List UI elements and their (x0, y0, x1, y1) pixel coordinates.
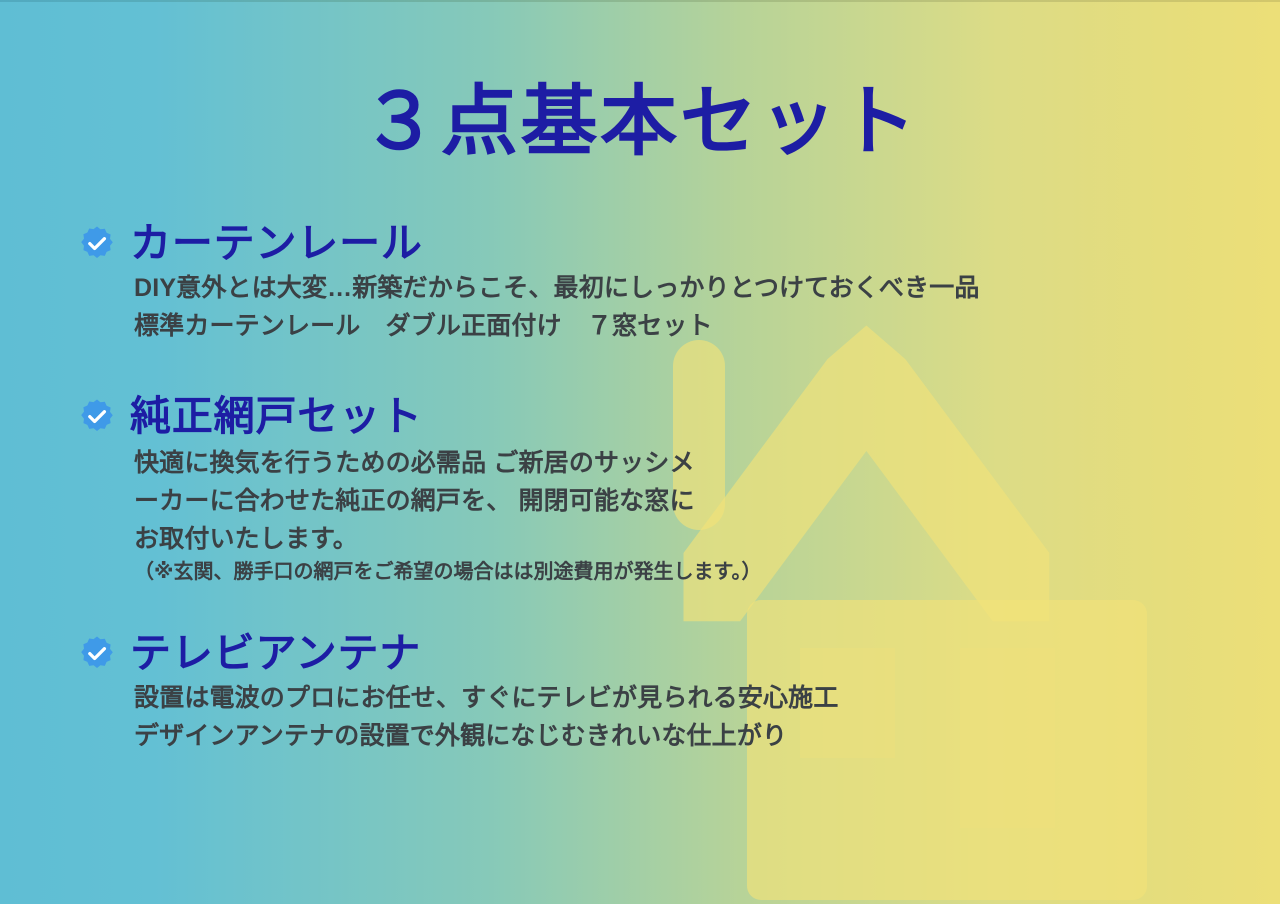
feature-line: デザインアンテナの設置で外観になじむきれいな仕上がり (134, 717, 838, 755)
house-icon (600, 300, 1280, 904)
feature-line: DIY意外とは大変…新築だからこそ、最初にしっかりとつけておくべき一品 (134, 269, 980, 307)
check-badge-icon (78, 398, 116, 436)
feature-title: 純正網戸セット (130, 395, 423, 438)
feature-heading-row: カーテンレール (78, 222, 980, 265)
page-title: ３点基本セット (0, 82, 1280, 163)
feature-line: お取付いたします。 (134, 520, 761, 558)
feature-item-curtain-rail: カーテンレール DIY意外とは大変…新築だからこそ、最初にしっかりとつけておくべ… (78, 222, 980, 345)
feature-description: 快適に換気を行うための必需品 ご新居のサッシメ ーカーに合わせた純正の網戸を、 … (134, 444, 761, 587)
feature-description: DIY意外とは大変…新築だからこそ、最初にしっかりとつけておくべき一品 標準カー… (134, 269, 980, 345)
poster-canvas: ３点基本セット カーテンレール DIY意外とは大変…新築だからこそ、最初にしっか… (0, 0, 1280, 904)
feature-heading-row: 純正網戸セット (78, 395, 761, 438)
feature-line: 標準カーテンレール ダブル正面付け ７窓セット (134, 307, 980, 345)
check-badge-icon (78, 635, 116, 673)
feature-description: 設置は電波のプロにお任せ、すぐにテレビが見られる安心施工 デザインアンテナの設置… (134, 679, 838, 755)
feature-note-line: （※玄関、勝手口の網戸をご希望の場合はは別途費用が発生します。） (134, 558, 761, 587)
top-edge-hairline (0, 0, 1280, 2)
feature-title: カーテンレール (130, 222, 423, 265)
feature-item-tv-antenna: テレビアンテナ 設置は電波のプロにお任せ、すぐにテレビが見られる安心施工 デザイ… (78, 632, 838, 755)
feature-title: テレビアンテナ (130, 632, 421, 675)
feature-heading-row: テレビアンテナ (78, 632, 838, 675)
feature-line: ーカーに合わせた純正の網戸を、 開閉可能な窓に (134, 482, 761, 520)
check-badge-icon (78, 225, 116, 263)
feature-line: 快適に換気を行うための必需品 ご新居のサッシメ (134, 444, 761, 482)
feature-item-screen-door: 純正網戸セット 快適に換気を行うための必需品 ご新居のサッシメ ーカーに合わせた… (78, 395, 761, 587)
feature-line: 設置は電波のプロにお任せ、すぐにテレビが見られる安心施工 (134, 679, 838, 717)
